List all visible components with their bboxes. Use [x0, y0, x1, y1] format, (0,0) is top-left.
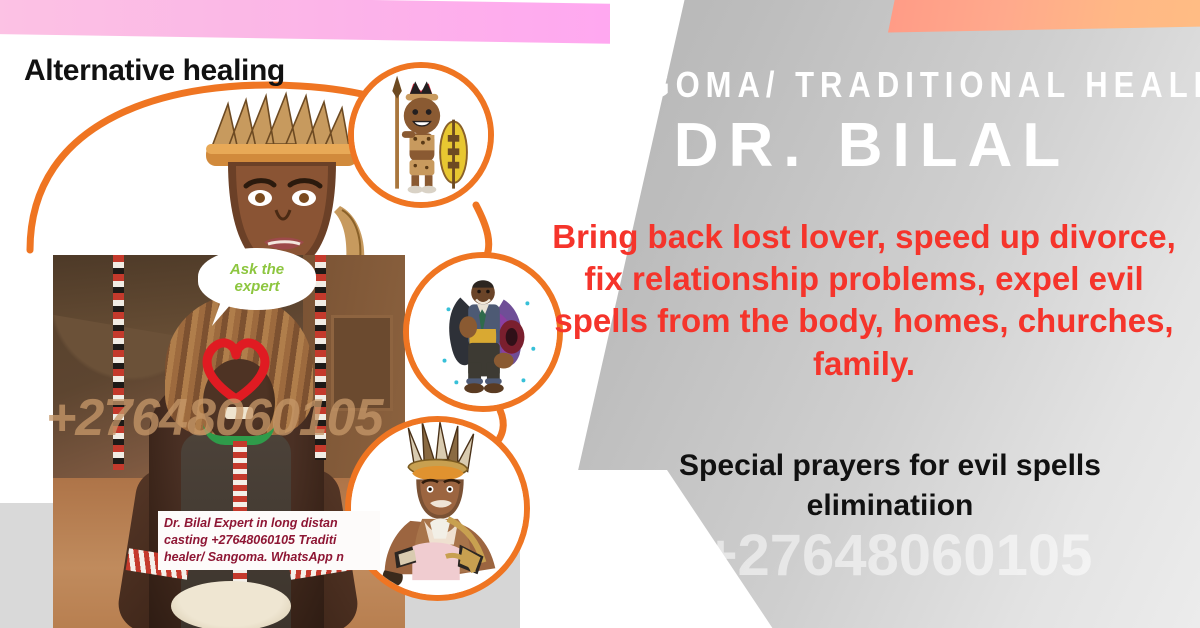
- healer-name: DR. BILAL: [562, 110, 1182, 181]
- watermark-phone-number: +27648060105: [600, 522, 1196, 589]
- poster-canvas: Alternative healing: [0, 0, 1200, 628]
- badge-zulu-warrior: [348, 62, 494, 208]
- zulu-warrior-icon: [354, 68, 488, 202]
- speech-bubble-text: Ask the expert: [207, 261, 307, 296]
- special-offer-text: Special prayers for evil spells eliminat…: [600, 446, 1180, 525]
- pink-accent-bar: [0, 0, 610, 44]
- caption-line-2: casting +27648060105 Traditi: [164, 532, 374, 549]
- photo-watermark-phone: +27648060105: [46, 388, 383, 448]
- kicker-text: SANGOMA/ TRADITIONAL HEALER: [562, 64, 1182, 106]
- caption-line-3: healer/ Sangoma. WhatsApp n: [164, 549, 374, 566]
- caption-line-1: Dr. Bilal Expert in long distan: [164, 515, 374, 532]
- services-text: Bring back lost lover, speed up divorce,…: [540, 216, 1188, 385]
- cloaked-healer-icon: [409, 258, 557, 406]
- badge-cloaked-healer: [403, 252, 563, 412]
- photo-caption: Dr. Bilal Expert in long distan casting …: [158, 511, 380, 570]
- speech-bubble: Ask the expert: [198, 248, 316, 310]
- page-title: Alternative healing: [24, 54, 285, 88]
